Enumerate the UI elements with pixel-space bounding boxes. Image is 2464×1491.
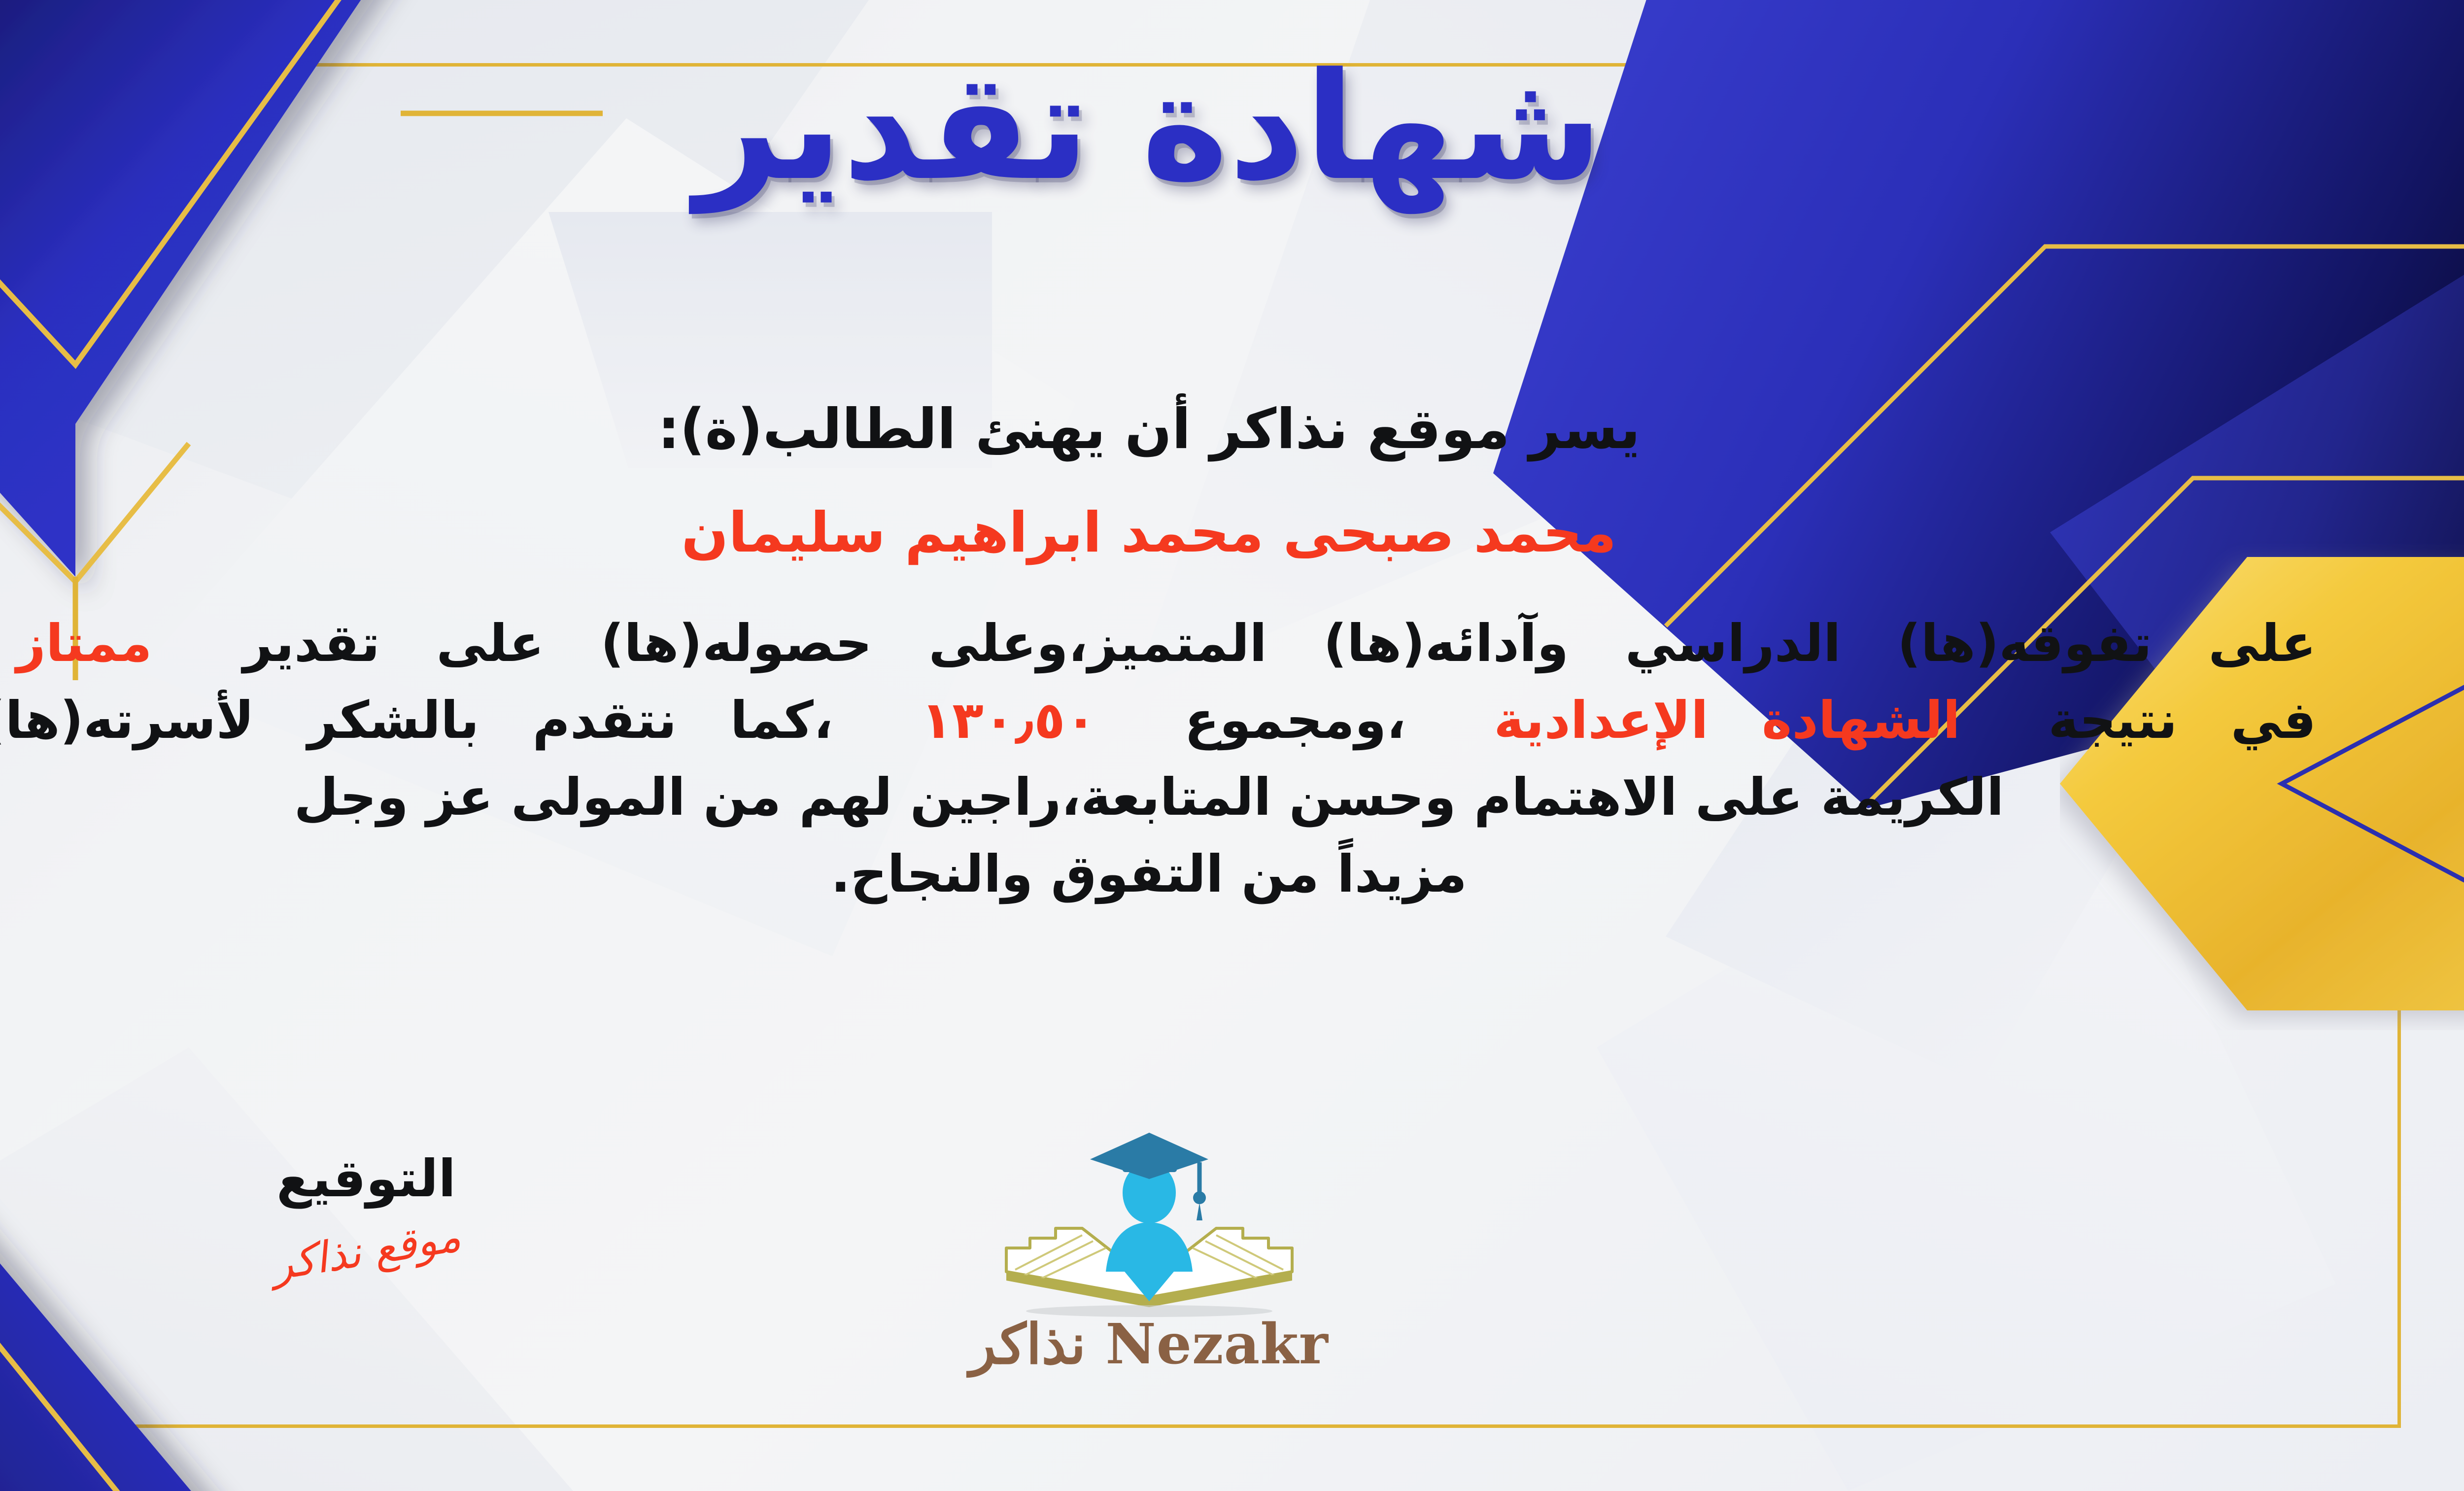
achievement-line-1: على تفوقه(ها) الدراسي وآدائه(ها) المتميز… bbox=[0, 605, 2316, 682]
achievement-text-1: على تفوقه(ها) الدراسي وآدائه(ها) المتميز… bbox=[243, 613, 2316, 673]
certificate-content: شهادة تقدير يسر موقع نذاكر أن يهنئ الطال… bbox=[0, 0, 2464, 1491]
exam-name: الشهادة الإعدادية bbox=[1494, 690, 1960, 750]
achievement-line-3: الكريمة على الاهتمام وحسن المتابعة،راجين… bbox=[0, 759, 2316, 835]
student-name: محمد صبحى محمد ابراهيم سليمان bbox=[0, 493, 2316, 574]
graduate-open-book-icon bbox=[977, 1124, 1322, 1321]
achievement-line-2: في نتيجة الشهادة الإعدادية ،ومجموع ١٣٠٫٥… bbox=[0, 682, 2316, 759]
total-score: ١٣٠٫٥٠ bbox=[921, 690, 1096, 750]
intro-line: يسر موقع نذاكر أن يهنئ الطالب(ة): bbox=[0, 389, 2316, 470]
page-title: شهادة تقدير bbox=[0, 49, 2464, 205]
certificate-canvas: شهادة تقدير يسر موقع نذاكر أن يهنئ الطال… bbox=[0, 0, 2464, 1491]
achievement-line-4: مزيداً من التفوق والنجاح. bbox=[0, 835, 2316, 912]
grade-value: ممتاز bbox=[16, 613, 152, 673]
total-prefix-text: ،ومجموع bbox=[1184, 690, 1405, 750]
certificate-body: يسر موقع نذاكر أن يهنئ الطالب(ة): محمد ص… bbox=[0, 389, 2316, 912]
brand-name: Nezakr نذاكر bbox=[969, 1312, 1329, 1377]
thanks-text: ،كما نتقدم بالشكر لأسرته(ها) bbox=[0, 690, 833, 750]
brand-logo: Nezakr نذاكر bbox=[0, 1124, 2464, 1377]
exam-prefix-text: في نتيجة bbox=[2048, 690, 2316, 750]
